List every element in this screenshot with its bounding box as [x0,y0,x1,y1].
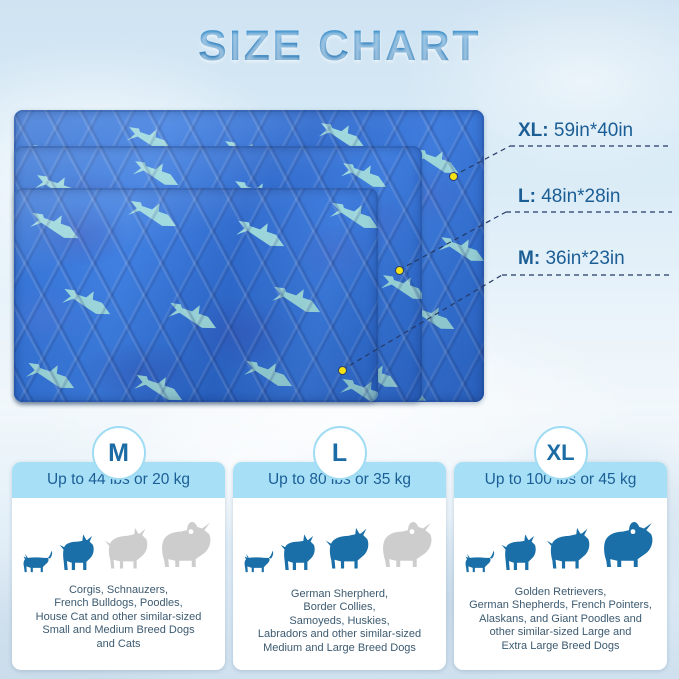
marker-dot-l [395,266,404,275]
breed-list-xl: Golden Retrievers, German Shepherds, Fre… [460,586,661,653]
medium-dog-silhouette-icon [325,522,377,576]
large-dog-silhouette-icon [379,514,438,576]
mat-m [14,188,378,402]
size-callout-l-dimensions: 48in*28in [541,186,620,207]
breed-list-l: German Sherpherd, Border Collies, Samoye… [239,588,440,655]
cat-silhouette-icon [462,544,498,576]
medium-dog-silhouette-icon [104,522,156,576]
size-cards-row: M Up to 44 lbs or 20 kg Corgis, Schnauze… [0,452,679,679]
dog-silhouettes-m [12,502,225,580]
size-callout-xl-code: XL: [518,120,549,141]
large-dog-silhouette-icon [600,514,659,576]
size-card-l[interactable]: L Up to 80 lbs or 35 kg German Sherpherd… [233,462,446,670]
small-dog-silhouette-icon [500,530,545,576]
size-callout-m-dimensions: 36in*23in [545,248,624,269]
size-badge-m: M [92,426,146,480]
size-card-m[interactable]: M Up to 44 lbs or 20 kg Corgis, Schnauze… [12,462,225,670]
size-callout-xl-dimensions: 59in*40in [554,120,633,141]
size-callout-m: M: 36in*23in [518,248,625,270]
cat-silhouette-icon [241,544,277,576]
size-badge-xl: XL [534,426,588,480]
size-callout-l-code: L: [518,186,536,207]
product-image-stacked-mats [14,110,484,402]
marker-dot-xl [449,172,458,181]
dog-silhouettes-l [233,502,446,580]
size-card-xl[interactable]: XL Up to 100 lbs or 45 kg Golden Retriev… [454,462,667,670]
large-dog-silhouette-icon [158,514,217,576]
marker-dot-m [338,366,347,375]
size-callout-xl: XL: 59in*40in [518,120,633,142]
breed-list-m: Corgis, Schnauzers, French Bulldogs, Poo… [18,584,219,651]
mat-edge-m [14,188,378,402]
size-callout-m-code: M: [518,248,540,269]
size-badge-l: L [313,426,367,480]
size-callout-l: L: 48in*28in [518,186,620,208]
small-dog-silhouette-icon [279,530,324,576]
medium-dog-silhouette-icon [546,522,598,576]
page-title: SIZE CHART [0,22,679,71]
small-dog-silhouette-icon [58,530,103,576]
cat-silhouette-icon [20,544,56,576]
dog-silhouettes-xl [454,502,667,580]
